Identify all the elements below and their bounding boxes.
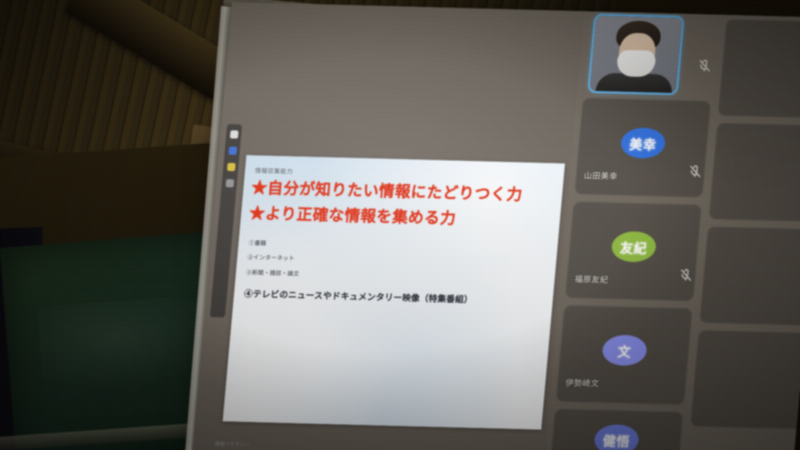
participant-tile[interactable]: 友紀 福原友紀 [565, 201, 702, 301]
participant-tile[interactable]: 美幸 山田美幸 [574, 98, 711, 198]
avatar: 健悟 [593, 424, 640, 450]
slide-source-item: ④テレビのニュースやドキュメンタリー映像（特集番組） [244, 287, 548, 308]
participant-name: 山田美幸 [583, 170, 618, 182]
slide-source-item: ③新聞・雑誌・論文 [246, 269, 549, 286]
avatar: 美幸 [620, 127, 667, 159]
slide-source-item: ②インターネット [247, 254, 550, 271]
self-view-tile[interactable] [590, 16, 683, 93]
avatar: 文 [601, 335, 648, 367]
share-footer-label: 情報リテラシー [214, 440, 250, 448]
mic-muted-icon [688, 165, 702, 179]
participant-tile[interactable]: 文 伊勢崎文 [556, 305, 693, 405]
shared-screen-area: 情報収集能力 ★自分が知りたい情報にたどりつく力 ★より正確な情報を集める力 ①… [191, 2, 585, 450]
participant-tile[interactable]: 吉 [709, 123, 800, 223]
slide-source-list: ①書籍 ②インターネット ③新聞・雑誌・論文 ④テレビのニュースやドキュメンタリ… [244, 239, 552, 308]
mic-muted-icon [698, 59, 712, 73]
classroom-projection-photo: 情報収集能力 ★自分が知りたい情報にたどりつく力 ★より正確な情報を集める力 ①… [0, 0, 800, 450]
slide-source-item: ①書籍 [248, 239, 551, 256]
avatar: 友紀 [610, 231, 657, 263]
projected-video-call-ui: 情報収集能力 ★自分が知りたい情報にたどりつく力 ★より正確な情報を集める力 ①… [191, 2, 800, 450]
annotate-white-icon[interactable] [229, 130, 238, 138]
self-view-video [590, 16, 683, 93]
presentation-slide: 情報収集能力 ★自分が知りたい情報にたどりつく力 ★より正確な情報を集める力 ①… [223, 155, 565, 430]
participant-roster: 美幸 山田美幸 友紀 福原友紀 文 伊勢崎文 健悟 鐘悟 本田 [544, 11, 800, 450]
participant-tile[interactable]: 健悟 鐘悟 [547, 409, 684, 450]
participant-name: 福原友紀 [574, 274, 609, 286]
participant-tile[interactable] [699, 226, 800, 326]
participant-name: 伊勢崎文 [565, 377, 600, 389]
mic-muted-icon [679, 268, 693, 282]
annotate-yellow-icon[interactable] [226, 163, 235, 171]
annotate-blue-icon[interactable] [228, 147, 237, 155]
annotate-grey-icon[interactable] [225, 179, 234, 187]
slide-headline-primary: ★自分が知りたい情報にたどりつく力 [251, 178, 557, 208]
participant-tile[interactable] [690, 330, 800, 430]
participant-tile[interactable]: 本田 [718, 19, 800, 119]
slide-headline-secondary: ★より正確な情報を集める力 [248, 203, 554, 233]
